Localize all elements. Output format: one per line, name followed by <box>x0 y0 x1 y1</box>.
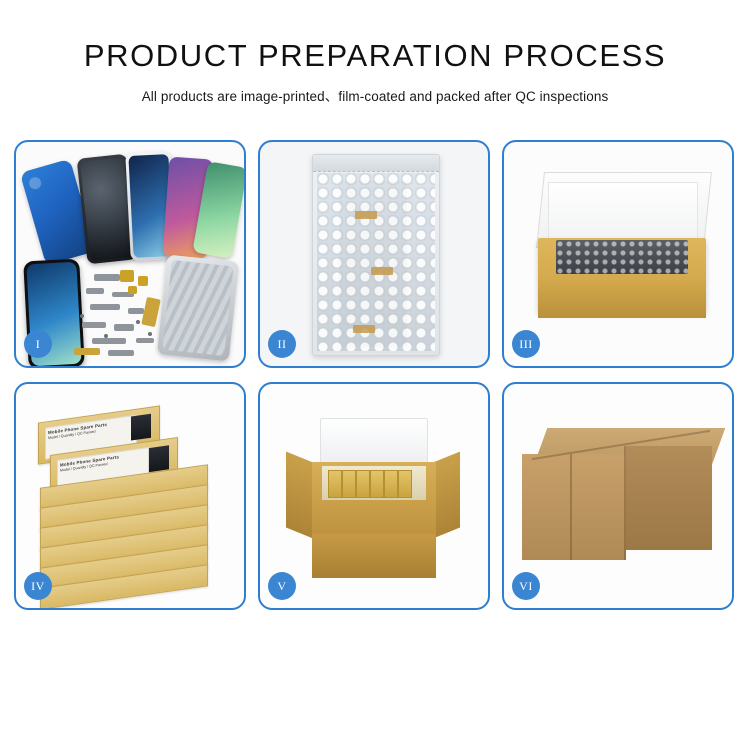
process-step-6: VI <box>502 382 734 610</box>
page-header: PRODUCT PREPARATION PROCESS All products… <box>0 0 750 105</box>
foam-carton-photo <box>504 142 732 366</box>
tape-3 <box>353 325 375 333</box>
carton-right-face <box>626 446 712 550</box>
packed-part-5 <box>384 470 398 498</box>
packed-part-1 <box>328 470 342 498</box>
box-window-2 <box>149 445 169 472</box>
sealed-carton-photo <box>504 384 732 608</box>
bag-seal <box>313 155 439 172</box>
process-step-5: V <box>258 382 490 610</box>
bubble-texture <box>317 173 435 351</box>
packed-part-6 <box>398 470 412 498</box>
bubble-wrap-bag <box>312 154 440 356</box>
carton-left-face <box>522 454 626 560</box>
packed-part-4 <box>370 470 384 498</box>
carton-front-panel <box>538 280 706 318</box>
carton-seam-1 <box>570 454 572 560</box>
process-step-2: II <box>258 140 490 368</box>
disassembled-back-panel <box>157 255 239 362</box>
page-title: PRODUCT PREPARATION PROCESS <box>0 40 750 71</box>
packed-part-2 <box>342 470 356 498</box>
grey-foam-pad <box>556 240 688 274</box>
step-badge-5: V <box>268 572 296 600</box>
tape-2 <box>371 267 393 275</box>
foam-box-lid <box>320 418 428 466</box>
bubble-wrap-photo <box>260 142 488 366</box>
packed-part-3 <box>356 470 370 498</box>
carton-front-face <box>312 534 436 578</box>
phone-parts-photo <box>16 142 244 366</box>
step-badge-4: IV <box>24 572 52 600</box>
process-step-1: I <box>14 140 246 368</box>
box-window-1 <box>131 414 151 441</box>
step-badge-3: III <box>512 330 540 358</box>
carton-seam-2 <box>624 446 626 560</box>
white-foam-sheet <box>548 182 698 246</box>
stacked-boxes-photo: Mobile Phone Spare Parts Model / Quantit… <box>16 384 244 608</box>
process-step-4: Mobile Phone Spare Parts Model / Quantit… <box>14 382 246 610</box>
step-badge-2: II <box>268 330 296 358</box>
tape-1 <box>355 211 377 219</box>
step-badge-6: VI <box>512 572 540 600</box>
process-grid: I II <box>14 140 736 610</box>
page-subtitle: All products are image-printed、film-coat… <box>0 85 750 105</box>
process-step-3: III <box>502 140 734 368</box>
product-preparation-page: PRODUCT PREPARATION PROCESS All products… <box>0 0 750 750</box>
step-badge-1: I <box>24 330 52 358</box>
foam-box-carton-photo <box>260 384 488 608</box>
